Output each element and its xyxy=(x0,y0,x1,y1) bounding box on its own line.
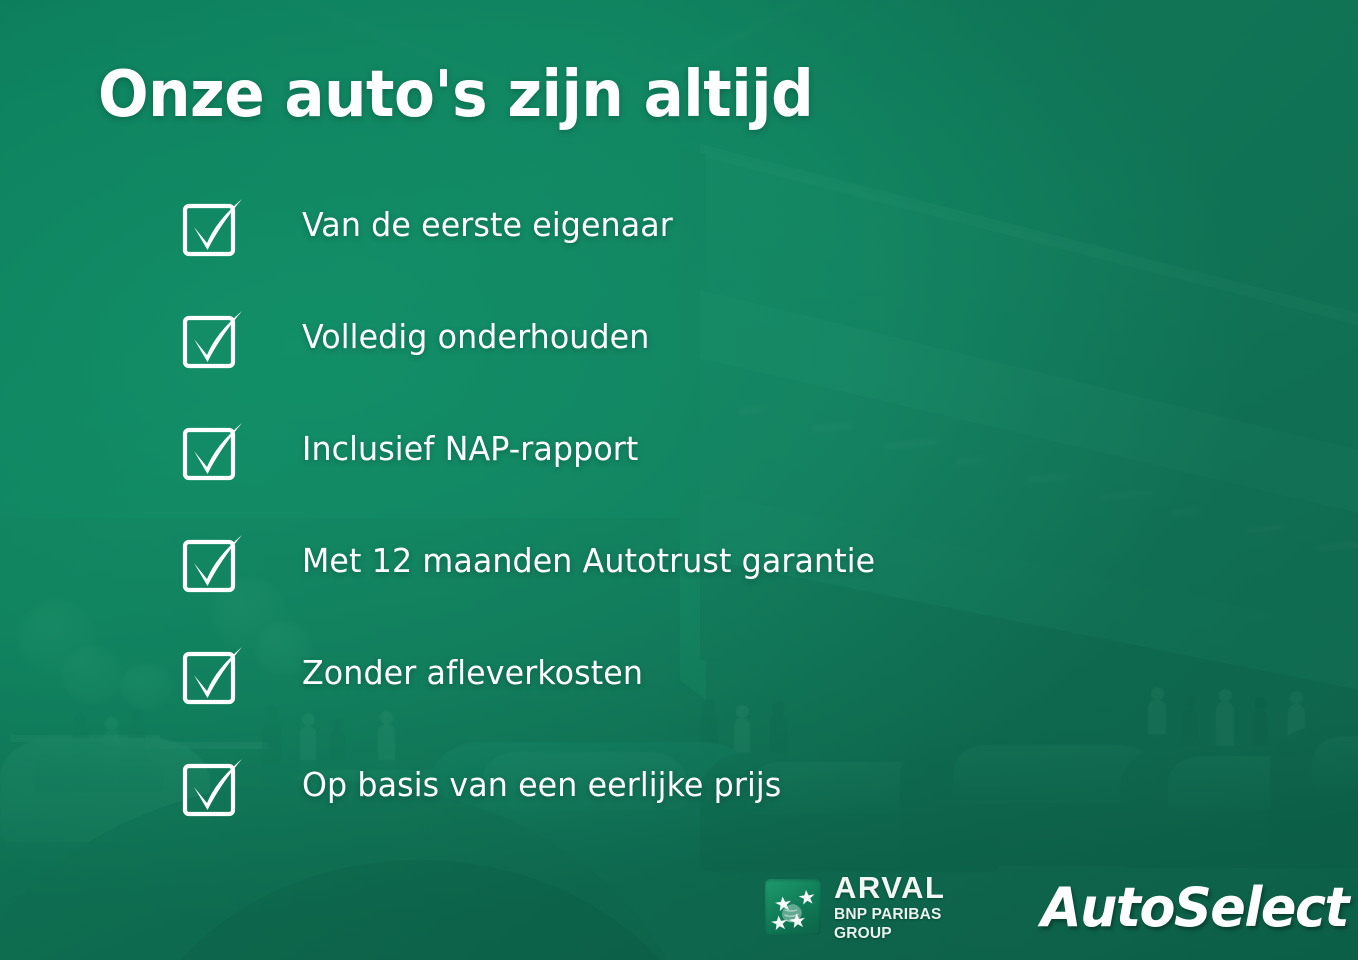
checklist-item: Inclusief NAP-rapport xyxy=(182,417,1282,529)
checkbox-checked-icon xyxy=(182,755,244,817)
checklist-item-label: Zonder afleverkosten xyxy=(302,641,643,703)
checklist-item-label: Met 12 maanden Autotrust garantie xyxy=(302,529,875,591)
checklist-item: Met 12 maanden Autotrust garantie xyxy=(182,529,1282,641)
poster-content: Onze auto's zijn altijd Van de eerste ei… xyxy=(0,0,1358,960)
arval-wordmark: ARVAL BNP PARIBAS GROUP xyxy=(834,872,997,943)
checklist-item-label: Op basis van een eerlijke prijs xyxy=(302,753,781,815)
autoselect-logo: AutoSelect xyxy=(1041,876,1348,939)
promo-poster: Onze auto's zijn altijd Van de eerste ei… xyxy=(0,0,1358,960)
feature-checklist: Van de eerste eigenaar Volledig onderhou… xyxy=(182,193,1282,865)
logo-bar: ARVAL BNP PARIBAS GROUP AutoSelect xyxy=(765,870,1358,944)
checklist-item-label: Inclusief NAP-rapport xyxy=(302,417,638,479)
checkbox-checked-icon xyxy=(182,643,244,705)
checklist-item: Van de eerste eigenaar xyxy=(182,193,1282,305)
arval-name: ARVAL xyxy=(834,872,997,903)
checkbox-checked-icon xyxy=(182,419,244,481)
checklist-item: Volledig onderhouden xyxy=(182,305,1282,417)
checklist-item: Zonder afleverkosten xyxy=(182,641,1282,753)
checklist-item-label: Volledig onderhouden xyxy=(302,305,649,367)
checkbox-checked-icon xyxy=(182,531,244,593)
arval-logo: ARVAL BNP PARIBAS GROUP xyxy=(765,878,997,936)
bnp-paribas-stars-icon xyxy=(765,879,821,935)
checkbox-checked-icon xyxy=(182,195,244,257)
checklist-item: Op basis van een eerlijke prijs xyxy=(182,753,1282,865)
arval-subtitle: BNP PARIBAS GROUP xyxy=(834,905,997,943)
checklist-item-label: Van de eerste eigenaar xyxy=(302,193,673,255)
page-title: Onze auto's zijn altijd xyxy=(98,58,813,132)
checkbox-checked-icon xyxy=(182,307,244,369)
